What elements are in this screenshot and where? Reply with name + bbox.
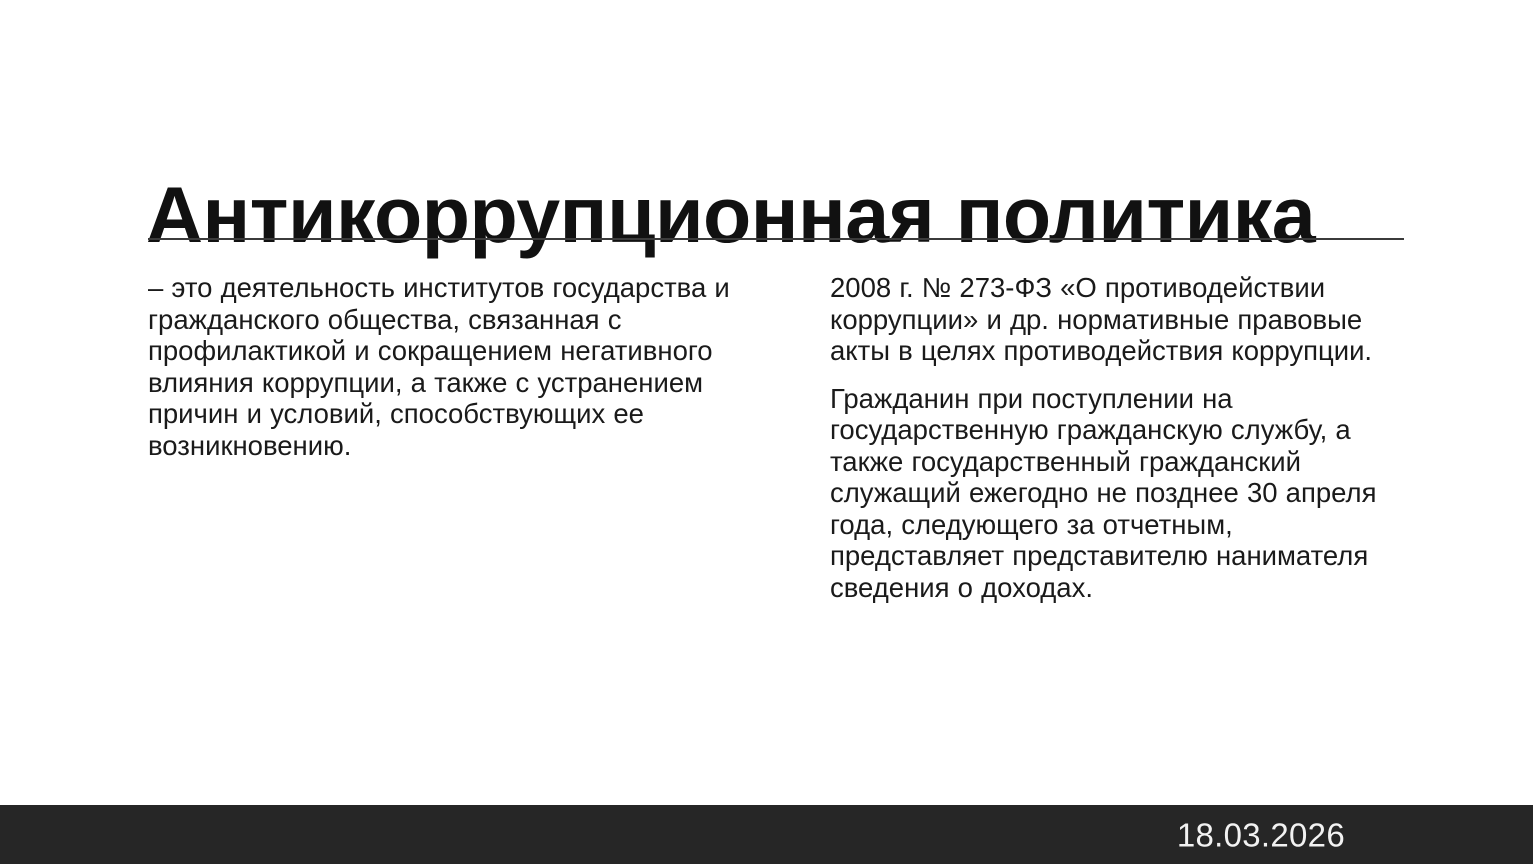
title-divider-rule	[148, 238, 1404, 240]
right-column-paragraph-1: 2008 г. № 273-ФЗ «О противодействии корр…	[830, 272, 1410, 367]
right-column-paragraph-2: Гражданин при поступлении на государстве…	[830, 383, 1410, 604]
page-title: Антикоррупционная политика	[146, 175, 1416, 254]
slide-body: – это деятельность институтов государств…	[0, 272, 1533, 772]
right-text-column: 2008 г. № 273-ФЗ «О противодействии корр…	[830, 272, 1410, 603]
footer-date: 18.03.2026	[1177, 818, 1345, 851]
left-column-paragraph-1: – это деятельность институтов государств…	[148, 272, 748, 461]
slide-footer-bar: 18.03.2026	[0, 805, 1533, 864]
left-text-column: – это деятельность институтов государств…	[148, 272, 748, 461]
presentation-slide: Антикоррупционная политика – это деятель…	[0, 0, 1533, 864]
